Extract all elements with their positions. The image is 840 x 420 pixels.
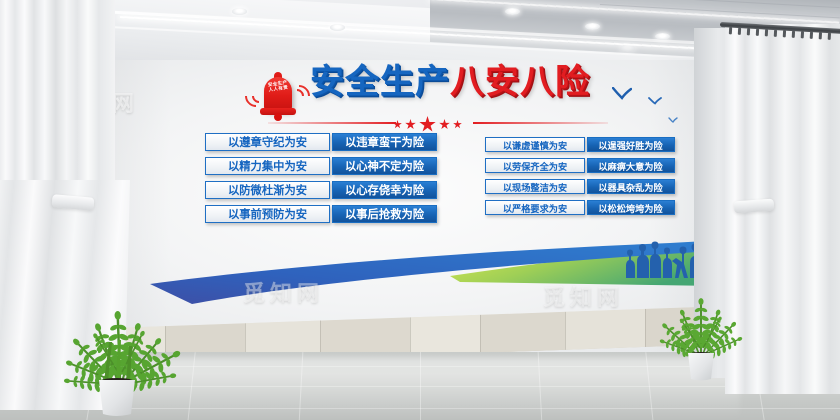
bird-icon (668, 117, 678, 123)
safe-slogan-panel[interactable]: 以严格要求为安 (485, 200, 585, 215)
risk-slogan-panel[interactable]: 以松松垮垮为险 (587, 200, 675, 215)
ceiling-downlight (620, 45, 635, 52)
title-divider (268, 115, 608, 135)
safe-slogan-panel[interactable]: 以防微杜渐为安 (205, 181, 330, 199)
slogan-row: 以严格要求为安 以松松垮垮为险 (485, 200, 675, 215)
watermark: 觅知网 (543, 280, 624, 312)
slogan-group-right: 以谦虚谨慎为安 以逞强好胜为险 以劳保齐全为安 以麻痹大意为险 以现场整洁为安 … (485, 137, 675, 221)
risk-slogan-panel[interactable]: 以心神不定为险 (332, 157, 437, 175)
risk-slogan-panel[interactable]: 以麻痹大意为险 (587, 158, 675, 173)
safe-slogan-panel[interactable]: 以谦虚谨慎为安 (485, 137, 585, 152)
slogan-group-left: 以遵章守纪为安 以违章蛮干为险 以精力集中为安 以心神不定为险 以防微杜渐为安 … (205, 133, 437, 229)
plant-left-foliage (60, 222, 190, 417)
star-icon (453, 120, 462, 129)
risk-slogan-panel[interactable]: 以器具杂乱为险 (587, 179, 675, 194)
watermark: 觅知网 (243, 276, 324, 308)
bird-icon (612, 87, 632, 100)
bottom-wave-graphic (150, 240, 730, 320)
safe-slogan-panel[interactable]: 以遵章守纪为安 (205, 133, 330, 151)
safe-slogan-panel[interactable]: 以劳保齐全为安 (485, 158, 585, 173)
risk-slogan-panel[interactable]: 以违章蛮干为险 (332, 133, 437, 151)
culture-wall-graphic: 安全生产 人人有责 安全生产八安八险 (150, 55, 710, 315)
title-red-text: 八安八险 (450, 63, 590, 101)
star-icon (405, 119, 416, 130)
slogan-row: 以现场整洁为安 以器具杂乱为险 (485, 179, 675, 194)
room-scene: 安全生产 人人有责 安全生产八安八险 (0, 0, 840, 420)
slogan-row: 以谦虚谨慎为安 以逞强好胜为险 (485, 137, 675, 152)
alarm-bell-icon: 安全生产 人人有责 (258, 69, 298, 121)
safe-slogan-panel[interactable]: 以事前预防为安 (205, 205, 330, 223)
ceiling-downlight (232, 8, 247, 15)
risk-slogan-panel[interactable]: 以逞强好胜为险 (587, 137, 675, 152)
safe-slogan-panel[interactable]: 以现场整洁为安 (485, 179, 585, 194)
potted-plant-left (60, 222, 190, 417)
title-blue-text: 安全生产 (310, 63, 450, 101)
risk-slogan-panel[interactable]: 以事后抢救为险 (332, 205, 437, 223)
page-title: 安全生产八安八险 (310, 65, 610, 115)
slogan-row: 以事前预防为安 以事后抢救为险 (205, 205, 437, 223)
ceiling-downlight (585, 23, 600, 30)
star-row (393, 116, 462, 133)
safe-slogan-panel[interactable]: 以精力集中为安 (205, 157, 330, 175)
potted-plant-right (652, 252, 750, 382)
ceiling-downlight (655, 33, 670, 40)
star-icon (419, 116, 436, 133)
slogan-row: 以劳保齐全为安 以麻痹大意为险 (485, 158, 675, 173)
bird-icon (648, 97, 662, 105)
slogan-row: 以防微杜渐为安 以心存侥幸为险 (205, 181, 437, 199)
slogan-row: 以精力集中为安 以心神不定为险 (205, 157, 437, 175)
ceiling-downlight (505, 8, 520, 15)
floor-reflection (120, 358, 740, 420)
plant-right-foliage (652, 252, 750, 382)
slogan-row: 以遵章守纪为安 以违章蛮干为险 (205, 133, 437, 151)
risk-slogan-panel[interactable]: 以心存侥幸为险 (332, 181, 437, 199)
ceiling-downlight (330, 24, 345, 31)
star-icon (393, 120, 402, 129)
star-icon (439, 119, 450, 130)
